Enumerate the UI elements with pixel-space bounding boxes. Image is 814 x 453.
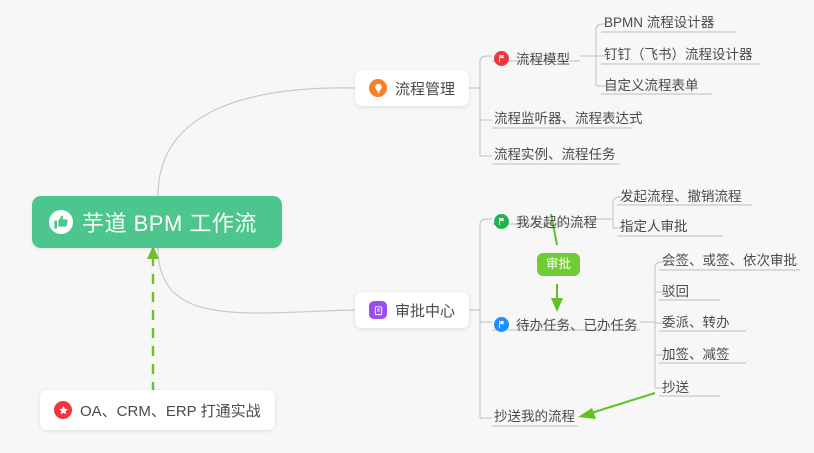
node-my-initiated-flows-label: 我发起的流程 — [516, 211, 597, 231]
edge-root-to-approval-center — [158, 248, 355, 313]
branch-label-approval-center: 审批中心 — [395, 300, 455, 321]
branch-node-approval-center[interactable]: 审批中心 — [355, 292, 469, 328]
leaf-process-listener[interactable]: 流程监听器、流程表达式 — [494, 112, 643, 126]
leaf-countersign[interactable]: 会签、或签、依次审批 — [662, 254, 797, 268]
leaf-process-instance[interactable]: 流程实例、流程任务 — [494, 148, 616, 162]
edge-root-to-process-management — [158, 88, 355, 196]
mindmap-canvas: 芋道 BPM 工作流 OA、CRM、ERP 打通实战 流程管理 流程模型 B — [0, 0, 814, 453]
arrow-cc-to-ccflow — [578, 393, 655, 419]
floating-note-oa-crm-erp[interactable]: OA、CRM、ERP 打通实战 — [40, 390, 275, 430]
leaf-dingtalk-designer[interactable]: 钉钉（飞书）流程设计器 — [604, 48, 753, 62]
arrow-note-to-root — [147, 246, 159, 392]
approval-badge: 审批 — [537, 253, 580, 276]
flag-icon — [494, 317, 509, 332]
leaf-add-remove-sign[interactable]: 加签、减签 — [662, 348, 730, 362]
leaf-bpmn-designer[interactable]: BPMN 流程设计器 — [604, 16, 714, 30]
leaf-custom-form[interactable]: 自定义流程表单 — [604, 79, 699, 93]
leaf-start-cancel-flow[interactable]: 发起流程、撤销流程 — [620, 190, 742, 204]
branch-label-process-management: 流程管理 — [395, 78, 455, 99]
node-todo-done-tasks[interactable]: 待办任务、已办任务 — [494, 314, 638, 334]
star-icon — [54, 401, 72, 419]
root-label: 芋道 BPM 工作流 — [82, 206, 257, 238]
flag-icon — [494, 214, 509, 229]
root-node[interactable]: 芋道 BPM 工作流 — [32, 196, 282, 248]
edge-initiated-trunk-cap — [613, 197, 620, 203]
leaf-assignee-approval[interactable]: 指定人审批 — [620, 220, 688, 234]
branch-node-process-management[interactable]: 流程管理 — [355, 70, 469, 106]
edge-pm-trunk-cap-top — [480, 56, 487, 62]
leaf-cc-to-me-flows[interactable]: 抄送我的流程 — [494, 410, 575, 424]
lightbulb-icon — [369, 79, 387, 97]
thumbs-up-icon — [49, 210, 73, 234]
floating-note-label: OA、CRM、ERP 打通实战 — [80, 400, 261, 421]
node-process-model[interactable]: 流程模型 — [494, 48, 570, 68]
leaf-delegate-transfer[interactable]: 委派、转办 — [662, 316, 730, 330]
leaf-reject[interactable]: 驳回 — [662, 285, 689, 299]
flag-icon — [494, 51, 509, 66]
edge-ac-trunk-cap-top — [480, 219, 487, 225]
leaf-cc[interactable]: 抄送 — [662, 381, 689, 395]
node-todo-done-tasks-label: 待办任务、已办任务 — [516, 314, 638, 334]
edge-todo-trunk-cap — [655, 262, 662, 268]
clipboard-icon — [369, 301, 387, 319]
edge-model-trunk-cap — [596, 24, 603, 30]
node-my-initiated-flows[interactable]: 我发起的流程 — [494, 211, 597, 231]
node-process-model-label: 流程模型 — [516, 48, 570, 68]
